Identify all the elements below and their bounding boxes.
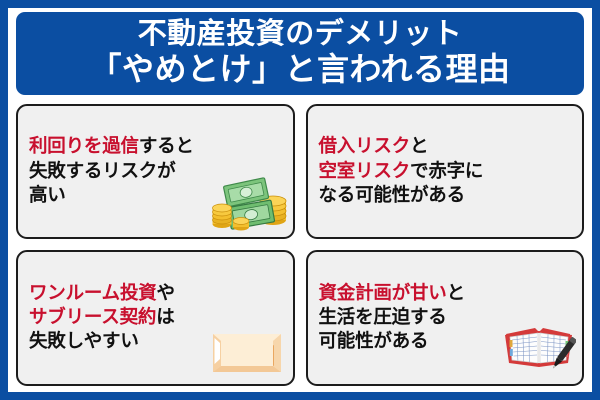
card-line: 生活を圧迫する xyxy=(319,306,465,330)
plain-text: と xyxy=(447,283,465,304)
card-line: 借入リスクと xyxy=(319,135,484,159)
infographic-inner: 不動産投資のデメリット 「やめとけ」と言われる理由 利回りを過信すると 失敗する… xyxy=(8,8,592,392)
plain-text: や xyxy=(157,283,175,304)
plain-text: すると xyxy=(139,136,194,157)
infographic-root: 不動産投資のデメリット 「やめとけ」と言われる理由 利回りを過信すると 失敗する… xyxy=(0,0,600,400)
title-line-2: 「やめとけ」と言われる理由 xyxy=(22,51,578,88)
highlight-text: 借入リスク xyxy=(319,136,411,157)
highlight-text: ワンルーム投資 xyxy=(29,283,157,304)
card-line: なる可能性がある xyxy=(319,184,484,208)
card-line: 空室リスクで赤字に xyxy=(319,160,484,184)
highlight-text: 空室リスク xyxy=(319,161,411,182)
card-line: 可能性がある xyxy=(319,330,465,354)
card-loan-and-vacancy-risk: 借入リスクと 空室リスクで赤字に なる可能性がある xyxy=(306,104,585,240)
card-line: サブリース契約は xyxy=(29,306,175,330)
card-line: 失敗しやすい xyxy=(29,330,175,354)
reason-card-grid: 利回りを過信すると 失敗するリスクが 高い xyxy=(16,104,584,386)
highlight-text: 資金計画が甘い xyxy=(319,283,447,304)
plain-text: 失敗しやすい xyxy=(29,331,139,352)
plain-text: と xyxy=(410,136,428,157)
card-line: 高い xyxy=(29,184,194,208)
card-yield-overconfidence: 利回りを過信すると 失敗するリスクが 高い xyxy=(16,104,295,240)
plain-text: 生活を圧迫する xyxy=(319,307,447,328)
card-line: 利回りを過信すると xyxy=(29,135,194,159)
plain-text: なる可能性がある xyxy=(319,185,465,206)
plain-text: 失敗するリスクが xyxy=(29,161,175,182)
card-line: ワンルーム投資や xyxy=(29,282,175,306)
card-one-room-and-sublease: ワンルーム投資や サブリース契約は 失敗しやすい xyxy=(16,250,295,386)
plain-text: 可能性がある xyxy=(319,331,429,352)
highlight-text: サブリース契約 xyxy=(29,307,156,328)
highlight-text: 利回りを過信 xyxy=(29,136,139,157)
card-text: 利回りを過信すると 失敗するリスクが 高い xyxy=(29,135,194,207)
card-weak-funding-plan: 資金計画が甘いと 生活を圧迫する 可能性がある xyxy=(306,250,585,386)
card-line: 資金計画が甘いと xyxy=(319,282,465,306)
card-text: 借入リスクと 空室リスクで赤字に なる可能性がある xyxy=(319,135,484,207)
plain-text: で赤字に xyxy=(410,161,483,182)
money-and-coins-illustration xyxy=(211,170,289,236)
card-text: ワンルーム投資や サブリース契約は 失敗しやすい xyxy=(29,282,175,354)
card-text: 資金計画が甘いと 生活を圧迫する 可能性がある xyxy=(319,282,465,354)
card-line: 失敗するリスクが xyxy=(29,160,194,184)
title-banner: 不動産投資のデメリット 「やめとけ」と言われる理由 xyxy=(16,12,584,95)
plain-text: 高い xyxy=(29,185,66,206)
account-book-and-pen-illustration xyxy=(502,320,576,380)
plain-text: は xyxy=(156,307,174,328)
empty-room-illustration xyxy=(201,328,287,382)
title-line-1: 不動産投資のデメリット xyxy=(22,17,578,51)
